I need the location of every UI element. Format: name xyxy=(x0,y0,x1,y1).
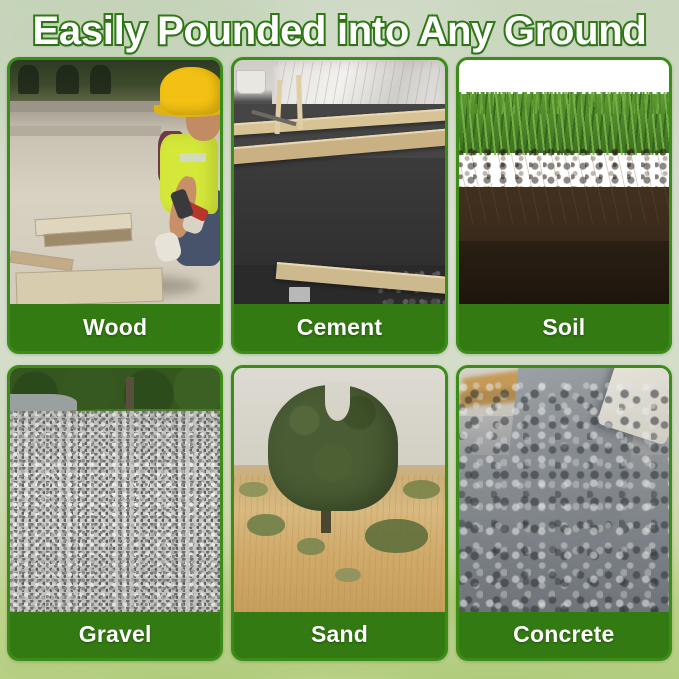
surface-label-wood: Wood xyxy=(10,304,220,350)
surface-card-cement[interactable]: Cement xyxy=(231,57,447,354)
concrete-photo xyxy=(459,368,669,612)
wood-background-person xyxy=(90,65,111,94)
desert-tree-canopy-gap xyxy=(325,382,350,421)
worker-vest-stripe xyxy=(180,153,206,162)
desert-shrub xyxy=(247,514,285,536)
desert-shrub xyxy=(297,538,324,555)
sand-photo xyxy=(234,368,444,612)
soil-grass-blade-tips xyxy=(459,92,669,114)
surface-label-gravel: Gravel xyxy=(10,612,220,658)
surface-card-sand[interactable]: Sand xyxy=(231,365,447,662)
page-title: Easily Pounded into Any Ground xyxy=(0,9,679,54)
worker-hard-hat xyxy=(160,67,220,114)
cement-photo xyxy=(234,60,444,304)
surface-card-concrete[interactable]: Concrete xyxy=(456,365,672,662)
gravel-photo xyxy=(10,368,220,612)
desert-shrub xyxy=(335,568,360,583)
concrete-aggregate-texture xyxy=(459,382,669,611)
wood-worker xyxy=(124,67,221,304)
soil-photo xyxy=(459,60,669,304)
soil-deep-layer xyxy=(459,241,669,304)
surface-card-wood[interactable]: Wood xyxy=(7,57,223,354)
cement-metal-angle xyxy=(289,287,310,302)
gravel-surface-shading xyxy=(10,411,220,611)
wood-background-person xyxy=(56,65,79,94)
desert-shrub xyxy=(239,482,268,497)
surface-card-gravel[interactable]: Gravel xyxy=(7,365,223,662)
surface-label-cement: Cement xyxy=(234,304,444,350)
surface-label-concrete: Concrete xyxy=(459,612,669,658)
wood-plank xyxy=(10,251,74,272)
cement-slab xyxy=(234,158,444,265)
wood-background-person xyxy=(18,65,39,94)
surface-label-soil: Soil xyxy=(459,304,669,350)
wood-photo xyxy=(10,60,220,304)
surface-label-sand: Sand xyxy=(234,612,444,658)
desert-shrub xyxy=(365,519,428,553)
cement-bucket xyxy=(236,70,265,94)
surface-card-soil[interactable]: Soil xyxy=(456,57,672,354)
surface-type-grid: Wood Cement xyxy=(7,57,672,661)
soil-roots xyxy=(459,150,669,223)
